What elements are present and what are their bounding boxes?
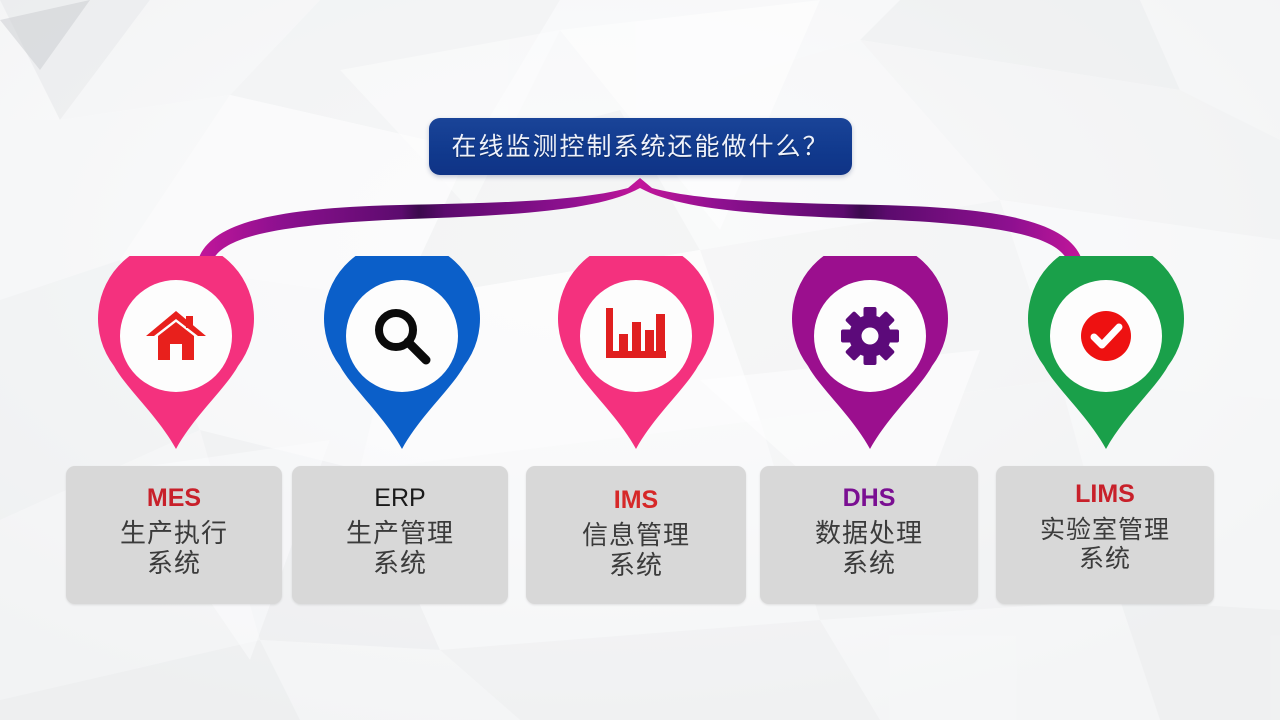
card-abbr-lims: LIMS — [1075, 482, 1135, 507]
card-name-dhs: 数据处理 系统 — [815, 519, 923, 579]
card-name-lims: 实验室管理 系统 — [1040, 515, 1170, 573]
pin-ims[interactable] — [556, 256, 716, 452]
card-abbr-erp: ERP — [374, 486, 425, 511]
pin-dhs[interactable] — [790, 256, 950, 452]
card-ims[interactable]: IMS 信息管理 系统 — [526, 466, 746, 604]
card-mes[interactable]: MES 生产执行 系统 — [66, 466, 282, 604]
pin-row — [0, 0, 1280, 720]
pin-mes[interactable] — [96, 256, 256, 452]
card-name-ims: 信息管理 系统 — [582, 521, 690, 581]
pin-erp[interactable] — [322, 256, 482, 452]
card-abbr-ims: IMS — [614, 488, 658, 513]
pin-lims[interactable] — [1026, 256, 1186, 452]
slide-canvas: 在线监测控制系统还能做什么？ — [0, 0, 1280, 720]
card-lims[interactable]: LIMS 实验室管理 系统 — [996, 466, 1214, 604]
card-name-erp: 生产管理 系统 — [346, 519, 454, 579]
card-erp[interactable]: ERP 生产管理 系统 — [292, 466, 508, 604]
card-abbr-dhs: DHS — [843, 486, 896, 511]
card-abbr-mes: MES — [147, 486, 201, 511]
card-dhs[interactable]: DHS 数据处理 系统 — [760, 466, 978, 604]
card-name-mes: 生产执行 系统 — [120, 519, 228, 579]
